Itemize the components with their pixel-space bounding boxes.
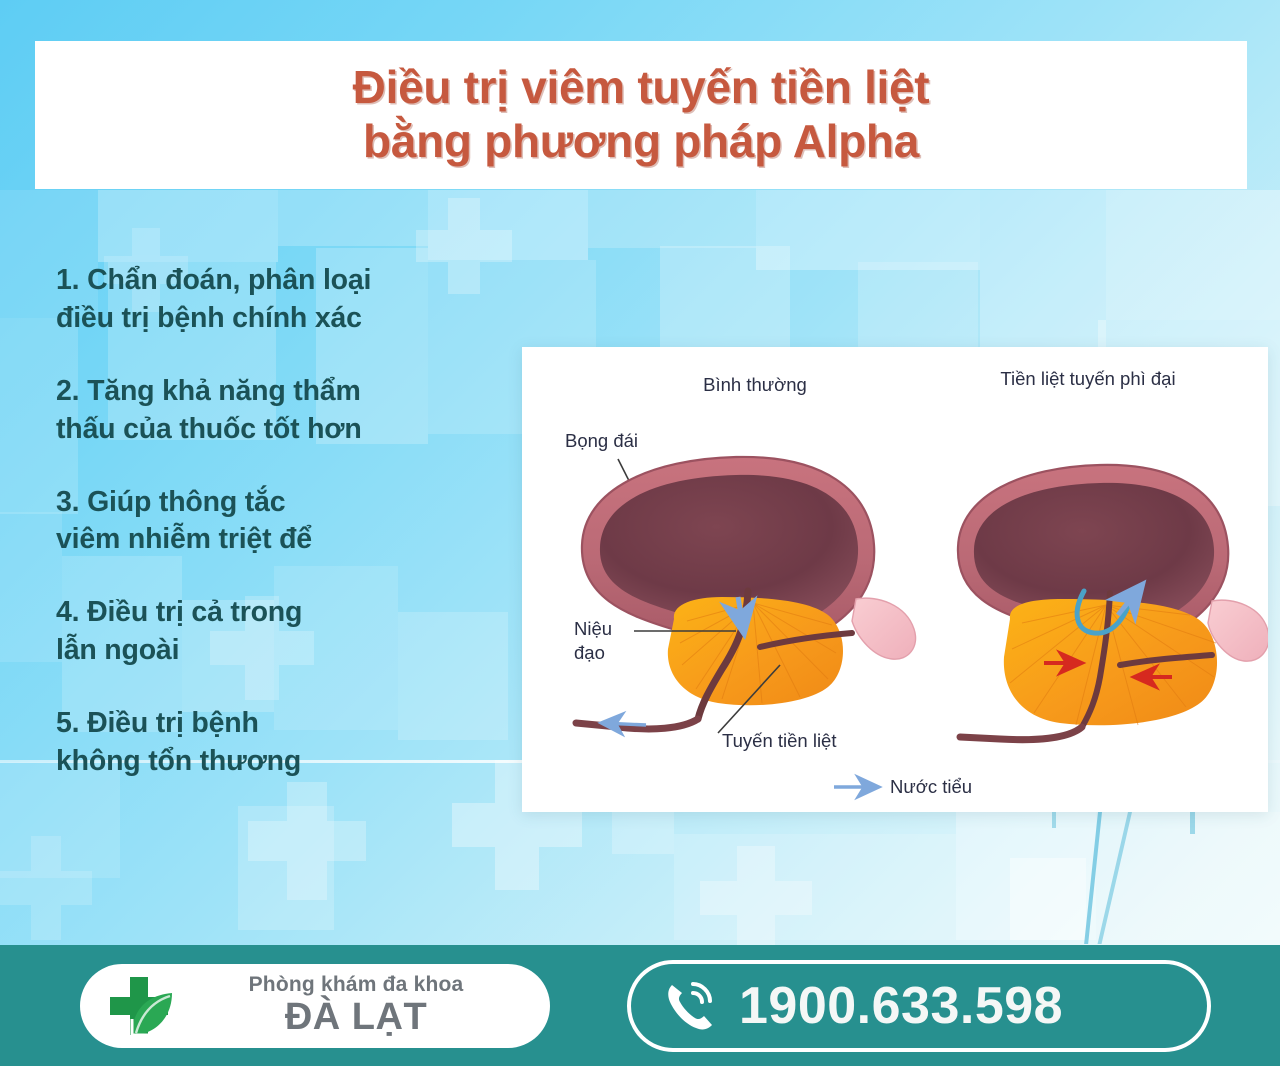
clinic-logo-pill[interactable]: Phòng khám đa khoa ĐÀ LẠT <box>80 964 550 1048</box>
benefit-5-line-1: 5. Điều trị bệnh <box>56 705 506 743</box>
clinic-name: ĐÀ LẠT <box>285 996 427 1039</box>
benefit-4-line-1: 4. Điều trị cả trong <box>56 594 506 632</box>
urine-flow-arrow-normal <box>602 723 646 725</box>
seminal-vesicle-normal <box>852 598 916 659</box>
streak-line <box>1190 812 1195 834</box>
prostate-normal <box>668 597 843 705</box>
diagram-label-prostate: Tuyến tiền liệt <box>722 730 837 751</box>
clinic-name-block: Phòng khám đa khoa ĐÀ LẠT <box>176 973 550 1039</box>
footer-bar: Phòng khám đa khoa ĐÀ LẠT 1900.633.598 <box>0 945 1280 1066</box>
diagram-heading-enlarged: Tiền liệt tuyến phì đại <box>1000 368 1175 389</box>
benefit-item-2: 2. Tăng khả năng thẩm thấu của thuốc tốt… <box>56 373 506 449</box>
benefit-4-line-2: lẫn ngoài <box>56 632 506 670</box>
diagram-label-urethra-line1: Niệu <box>574 618 612 639</box>
benefit-item-4: 4. Điều trị cả trong lẫn ngoài <box>56 594 506 670</box>
benefit-item-5: 5. Điều trị bệnh không tổn thương <box>56 705 506 781</box>
hotline-number: 1900.633.598 <box>739 976 1063 1036</box>
phone-ringing-icon <box>663 979 717 1033</box>
benefit-item-1: 1. Chẩn đoán, phân loại điều trị bệnh ch… <box>56 262 506 338</box>
clinic-subtitle: Phòng khám đa khoa <box>249 973 464 996</box>
benefit-item-3: 3. Giúp thông tắc viêm nhiễm triệt để <box>56 484 506 560</box>
title-card: Điều trị viêm tuyến tiền liệt bằng phươn… <box>35 41 1247 189</box>
page-title-line-2: bằng phương pháp Alpha <box>363 115 919 169</box>
diagram-heading-normal: Bình thường <box>703 374 807 395</box>
benefit-2-line-2: thấu của thuốc tốt hơn <box>56 411 506 449</box>
cross-motif <box>248 782 366 900</box>
cross-motif <box>0 836 92 940</box>
benefit-2-line-1: 2. Tăng khả năng thẩm <box>56 373 506 411</box>
diagram-label-bladder: Bọng đái <box>565 430 638 451</box>
page-title-line-1: Điều trị viêm tuyến tiền liệt <box>353 61 930 115</box>
benefit-1-line-2: điều trị bệnh chính xác <box>56 300 506 338</box>
hotline-pill[interactable]: 1900.633.598 <box>627 960 1211 1052</box>
cross-motif <box>700 846 812 950</box>
clinic-cross-leaf-logo <box>102 969 176 1043</box>
benefit-1-line-1: 1. Chẩn đoán, phân loại <box>56 262 506 300</box>
benefit-5-line-2: không tổn thương <box>56 743 506 781</box>
diagram-label-urine: Nước tiểu <box>890 776 972 797</box>
seminal-vesicle-enlarged <box>1208 600 1268 661</box>
urethra-outflow-enlarged <box>960 727 1082 740</box>
diagram-label-urethra-line2: đạo <box>574 642 605 663</box>
benefit-3-line-1: 3. Giúp thông tắc <box>56 484 506 522</box>
benefit-3-line-2: viêm nhiễm triệt để <box>56 521 506 559</box>
streak-line <box>1052 812 1056 828</box>
benefits-list: 1. Chẩn đoán, phân loại điều trị bệnh ch… <box>56 262 506 781</box>
prostate-diagram-panel: Bình thường Bọng đái Niệu đạo Tuyến t <box>522 347 1268 812</box>
